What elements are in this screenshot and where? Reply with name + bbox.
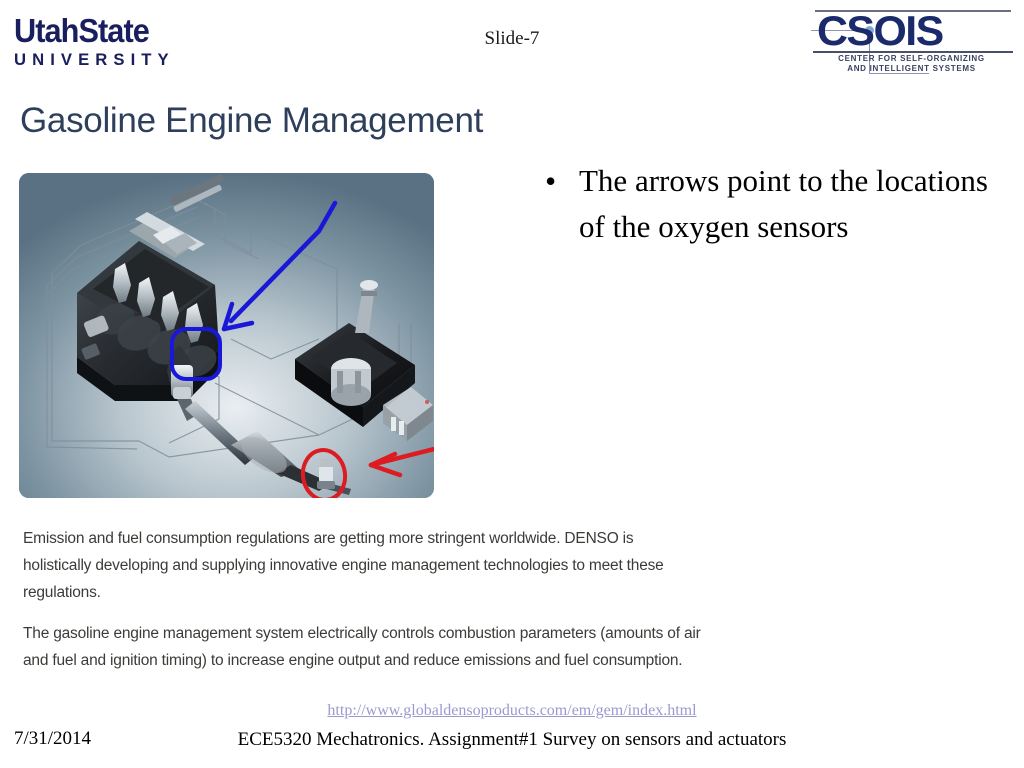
- usu-university-text: UNIVERSITY: [14, 49, 210, 70]
- figure-red-dot: [425, 400, 429, 404]
- engine-management-diagram: [19, 173, 434, 498]
- slide-title: Gasoline Engine Management: [20, 101, 483, 141]
- source-url-link[interactable]: http://www.globaldensoproducts.com/em/ge…: [0, 702, 1024, 720]
- csois-acronym-text: CSOIS: [817, 9, 943, 53]
- bullet-item-label: The arrows point to the locations of the…: [579, 158, 995, 250]
- csois-tagline-line1: CENTER FOR SELF-ORGANIZING: [809, 54, 1014, 64]
- csois-tagline-line2: AND INTELLIGENT SYSTEMS: [809, 64, 1014, 74]
- bullet-dot-icon: •: [545, 158, 579, 204]
- caption-paragraph-2: The gasoline engine management system el…: [23, 620, 713, 674]
- list-item: • The arrows point to the locations of t…: [545, 158, 995, 250]
- footer-course-label: ECE5320 Mechatronics. Assignment#1 Surve…: [0, 729, 1024, 751]
- caption-paragraph-1: Emission and fuel consumption regulation…: [23, 525, 683, 606]
- bullet-list: • The arrows point to the locations of t…: [545, 158, 995, 250]
- csois-mid-rule: [813, 51, 1013, 53]
- csois-logo: CSOIS CENTER FOR SELF-ORGANIZING AND INT…: [809, 6, 1014, 78]
- csois-tagline: CENTER FOR SELF-ORGANIZING AND INTELLIGE…: [809, 54, 1014, 74]
